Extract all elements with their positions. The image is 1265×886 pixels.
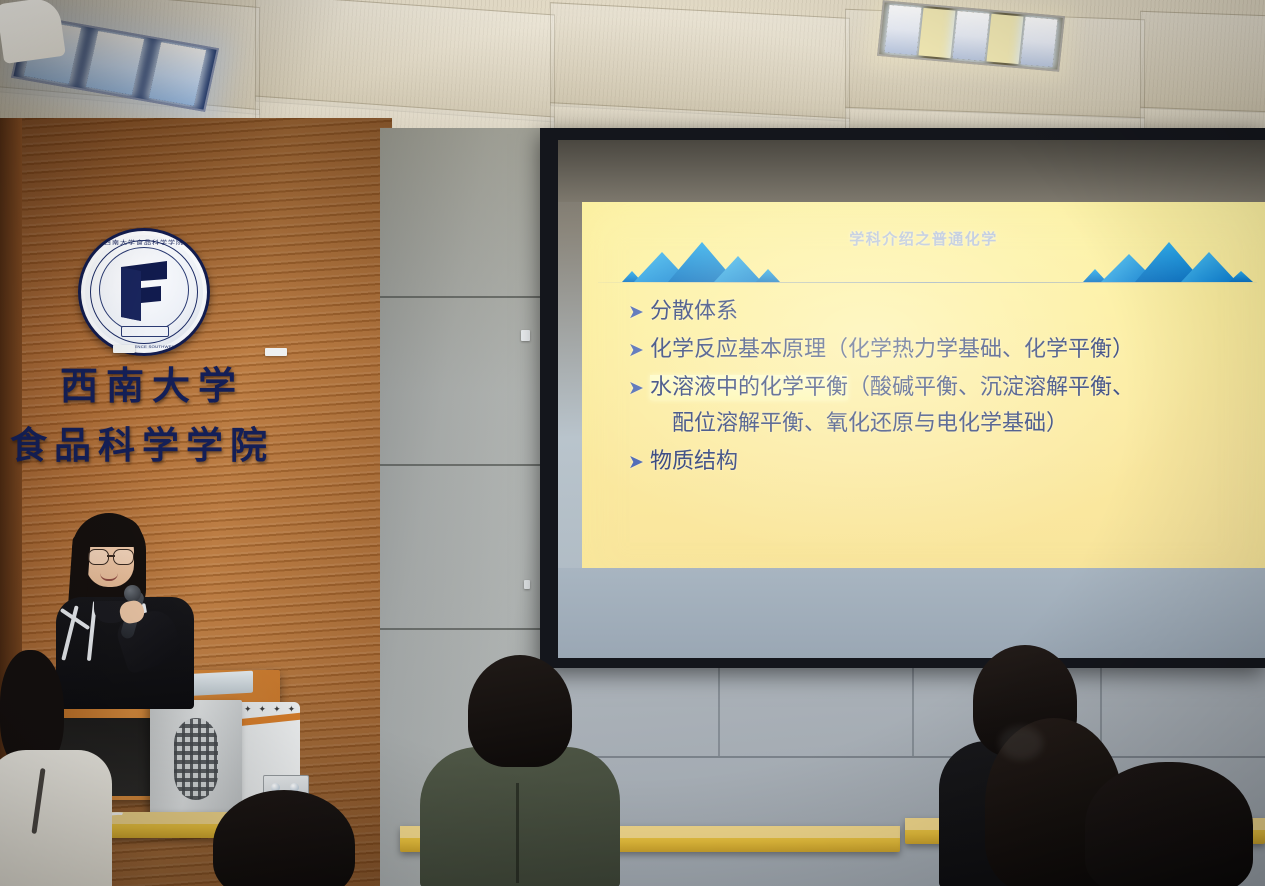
light-diffuser [919,8,956,58]
presentation-slide: 学科介绍之普通化学 ➤ 分散体系 ➤ 化学反应基本原理（化学热力学基础、化学平衡… [582,202,1265,590]
audience-head [213,790,355,886]
slide-bullet-text: 分散体系 [650,299,738,324]
presenter-glasses-icon [88,549,134,563]
audience-member [205,790,365,886]
light-strip [885,4,922,55]
projection-screen: 学科介绍之普通化学 ➤ 分散体系 ➤ 化学反应基本原理（化学热力学基础、化学平衡… [540,128,1265,668]
crest-english-text: COLLEGE OF FOOD SCIENCE SOUTHWEST UNIVER… [81,344,207,349]
bullet-arrow-icon: ➤ [628,294,644,330]
light-strip [952,10,989,61]
wall-label-tag [265,348,287,356]
slide-bullet-item: ➤ 化学反应基本原理（化学热力学基础、化学平衡） [628,332,1247,368]
slide-bullet-text-tail: （酸碱平衡、沉淀溶解平衡、 [848,375,1134,400]
glasses-bridge [107,555,115,557]
wall-marker-icon [524,580,530,589]
ceiling-tile [1140,11,1265,119]
crest-chinese-text: 西南大学食品科学学院 [81,239,207,247]
bullet-arrow-icon: ➤ [628,332,644,368]
wall-marker-icon [521,330,530,341]
wall-sign-university: 西南大学 [60,355,244,410]
jacket-back-seam [516,783,519,883]
screen-upper-band [558,140,1265,202]
slide-bullet-text: 化学反应基本原理（化学热力学基础、化学平衡） [650,337,1134,362]
audience-member [0,650,110,886]
wall-seam [380,464,560,466]
wall-sign-college: 食品科学学院 [10,415,274,469]
audience-body [0,750,112,886]
audience-body [420,747,620,886]
audience-head [1085,762,1253,886]
lecture-hall-scene: 西南大学食品科学学院 COLLEGE OF FOOD SCIENCE SOUTH… [0,0,1265,886]
glasses-lens-left [88,549,109,565]
microphone-head-icon [124,585,141,602]
university-crest-logo: 西南大学食品科学学院 COLLEGE OF FOOD SCIENCE SOUTH… [78,228,210,356]
glasses-lens-right [113,549,134,565]
light-diffuser [986,14,1023,64]
crest-f-emblem-icon [115,257,173,323]
bullet-arrow-icon: ➤ [628,444,644,480]
slide-bullet-item-highlighted: ➤ 水溶液中的化学平衡（酸碱平衡、沉淀溶解平衡、 配位溶解平衡、氧化还原与电化学… [628,370,1247,442]
wall-seam [380,628,560,630]
wall-seam [380,296,560,298]
bullet-arrow-icon: ➤ [628,370,644,406]
slide-bullet-text-highlight: 水溶液中的化学平衡 [650,375,848,400]
crest-scroll-banner [121,326,169,337]
light-strip [1020,16,1057,67]
audience-member [420,655,620,886]
slide-divider-line [598,282,1257,283]
screen-lower-band [558,568,1265,658]
slide-header: 学科介绍之普通化学 [582,202,1265,292]
slide-bullet-list: ➤ 分散体系 ➤ 化学反应基本原理（化学热力学基础、化学平衡） ➤ 水溶液中的化… [628,294,1247,482]
slide-bullet-continuation: 配位溶解平衡、氧化还原与电化学基础） [650,406,1247,442]
slide-bullet-item: ➤ 分散体系 [628,294,1247,330]
slide-bullet-item: ➤ 物质结构 [628,444,1247,480]
slide-title: 学科介绍之普通化学 [582,228,1265,249]
audience-head [468,655,572,767]
speaker-grille [174,718,218,800]
hair-highlight [999,726,1043,760]
slide-bullet-text: 物质结构 [650,449,738,474]
back-wall-seam [540,756,1265,758]
wall-label-tag [113,345,135,353]
projection-screen-surface: 学科介绍之普通化学 ➤ 分散体系 ➤ 化学反应基本原理（化学热力学基础、化学平衡… [558,140,1265,658]
white-bag [0,0,66,64]
audience-member [1085,762,1265,886]
